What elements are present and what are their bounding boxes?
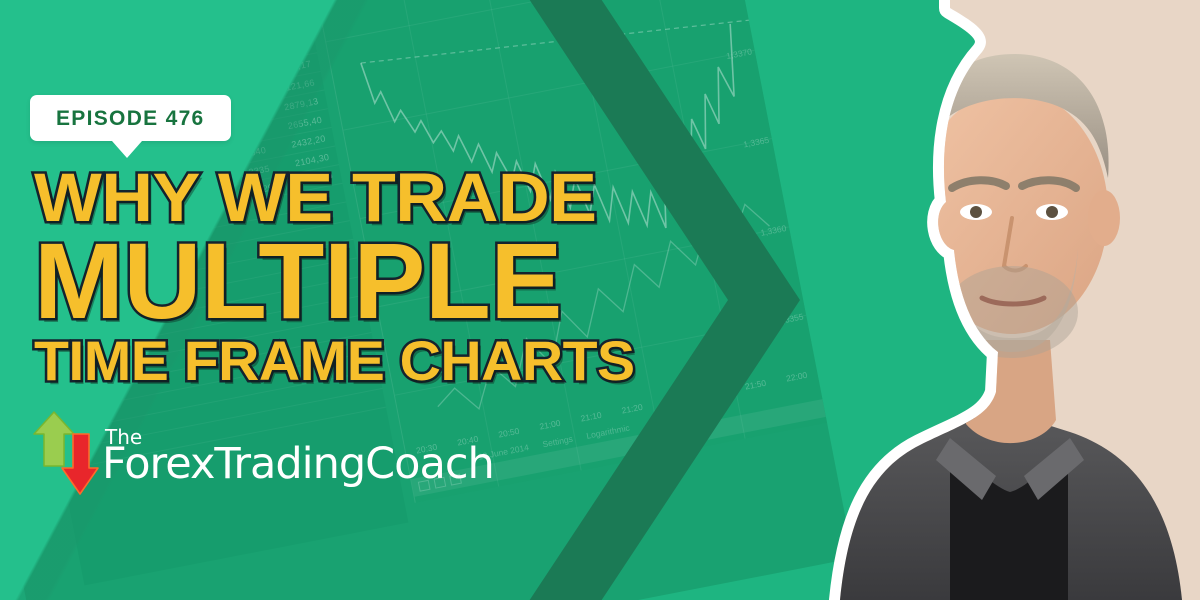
thumbnail-canvas: 1,33754597,20 1,33683883,11 1,33623644,1…: [0, 0, 1200, 600]
badge-pointer-tail: [112, 141, 142, 158]
headline-line-2: MULTIPLE: [34, 231, 714, 330]
arrow-down-icon: [62, 434, 98, 494]
arrow-up-icon: [34, 412, 74, 466]
brand-logo: The ForexTradingCoach: [28, 404, 494, 500]
presenter-photo: [800, 0, 1200, 600]
logo-arrows-mark: [28, 404, 100, 500]
headline: WHY WE TRADE MULTIPLE TIME FRAME CHARTS: [34, 166, 714, 386]
episode-badge: EPISODE 476: [30, 95, 231, 141]
headline-line-3: TIME FRAME CHARTS: [34, 335, 728, 387]
logo-name-label: ForexTradingCoach: [102, 443, 494, 486]
episode-badge-label: EPISODE 476: [56, 108, 205, 129]
